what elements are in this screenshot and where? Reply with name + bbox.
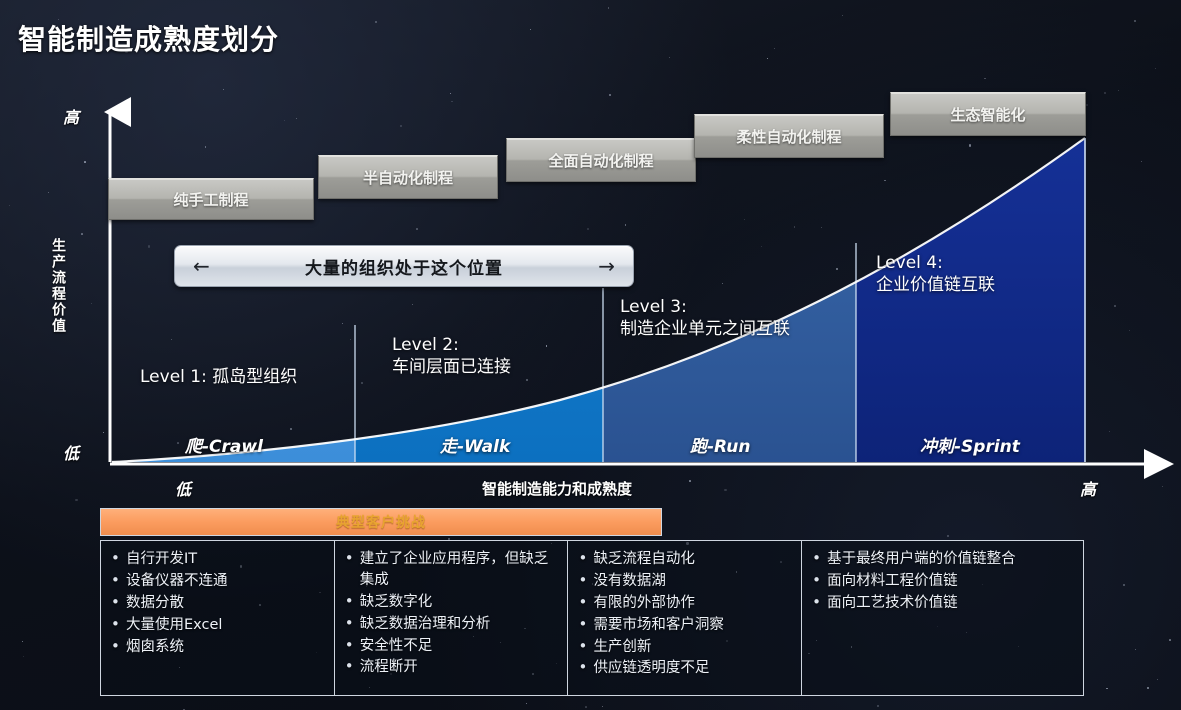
list-item: 缺乏流程自动化 [576, 549, 795, 570]
level-4-run-label: 冲刺-Sprint [920, 432, 1020, 457]
list-item: 建立了企业应用程序，但缺乏集成 [343, 549, 562, 591]
list-item: 需要市场和客户洞察 [576, 615, 795, 636]
x-axis-low-label: 低 [175, 476, 191, 500]
step-block-full-auto[interactable]: 全面自动化制程 [506, 138, 696, 182]
list-item: 大量使用Excel [109, 615, 328, 636]
y-axis-high-label: 高 [63, 104, 79, 128]
challenges-list-1: 自行开发IT设备仪器不连通数据分散大量使用Excel烟囱系统 [109, 549, 328, 657]
list-item: 基于最终用户端的价值链整合 [810, 549, 1077, 570]
list-item: 供应链透明度不足 [576, 658, 795, 679]
level-3-title-line1: Level 3: [620, 296, 790, 318]
diagram-canvas: 智能制造成熟度划分 [0, 0, 1181, 710]
level-2-title: Level 2: 车间层面已连接 [392, 334, 511, 379]
challenges-column-1: 自行开发IT设备仪器不连通数据分散大量使用Excel烟囱系统 [101, 541, 335, 695]
level-2-run-label: 走-Walk [440, 432, 510, 457]
step-block-flexible-auto[interactable]: 柔性自动化制程 [694, 114, 884, 158]
x-axis-title: 智能制造能力和成熟度 [482, 478, 632, 499]
level-3-title-line2: 制造企业单元之间互联 [620, 318, 790, 340]
level-2-title-line2: 车间层面已连接 [392, 356, 511, 378]
list-item: 设备仪器不连通 [109, 571, 328, 592]
challenges-column-4: 基于最终用户端的价值链整合面向材料工程价值链面向工艺技术价值链 [802, 541, 1083, 695]
typical-challenges-banner-label: 典型客户挑战 [336, 512, 426, 532]
arrow-right-icon: → [598, 256, 615, 276]
x-axis-high-label: 高 [1080, 476, 1096, 500]
challenges-column-3: 缺乏流程自动化没有数据湖有限的外部协作需要市场和客户洞察生产创新供应链透明度不足 [568, 541, 802, 695]
level-4-title: Level 4: 企业价值链互联 [876, 252, 995, 297]
step-block-manual[interactable]: 纯手工制程 [108, 178, 314, 220]
arrow-left-icon: ← [193, 256, 210, 276]
list-item: 安全性不足 [343, 636, 562, 657]
list-item: 缺乏数据治理和分析 [343, 614, 562, 635]
y-axis-low-label: 低 [63, 440, 79, 464]
list-item: 流程断开 [343, 657, 562, 678]
challenges-list-3: 缺乏流程自动化没有数据湖有限的外部协作需要市场和客户洞察生产创新供应链透明度不足 [576, 549, 795, 679]
typical-challenges-banner: 典型客户挑战 [100, 508, 662, 536]
callout-banner[interactable]: ← 大量的组织处于这个位置 → [174, 245, 634, 287]
challenges-column-2: 建立了企业应用程序，但缺乏集成缺乏数字化缺乏数据治理和分析安全性不足流程断开 [335, 541, 569, 695]
level-1-title: Level 1: 孤岛型组织 [140, 366, 297, 388]
list-item: 没有数据湖 [576, 571, 795, 592]
step-block-eco-intelligent[interactable]: 生态智能化 [890, 92, 1086, 136]
level-3-title: Level 3: 制造企业单元之间互联 [620, 296, 790, 341]
level-4-title-line1: Level 4: [876, 252, 995, 274]
challenges-table: 自行开发IT设备仪器不连通数据分散大量使用Excel烟囱系统 建立了企业应用程序… [100, 540, 1084, 696]
list-item: 数据分散 [109, 593, 328, 614]
level-2-title-line1: Level 2: [392, 334, 511, 356]
list-item: 烟囱系统 [109, 637, 328, 658]
list-item: 有限的外部协作 [576, 593, 795, 614]
list-item: 缺乏数字化 [343, 592, 562, 613]
y-axis-title: 生产流程价值 [46, 238, 68, 334]
level-1-run-label: 爬-Crawl [185, 432, 263, 457]
level-3-run-label: 跑-Run [690, 432, 750, 457]
challenges-list-2: 建立了企业应用程序，但缺乏集成缺乏数字化缺乏数据治理和分析安全性不足流程断开 [343, 549, 562, 678]
list-item: 面向工艺技术价值链 [810, 593, 1077, 614]
list-item: 面向材料工程价值链 [810, 571, 1077, 592]
list-item: 自行开发IT [109, 549, 328, 570]
level-4-title-line2: 企业价值链互联 [876, 274, 995, 296]
list-item: 生产创新 [576, 637, 795, 658]
callout-text: 大量的组织处于这个位置 [210, 254, 598, 279]
challenges-list-4: 基于最终用户端的价值链整合面向材料工程价值链面向工艺技术价值链 [810, 549, 1077, 614]
step-block-semi-auto[interactable]: 半自动化制程 [318, 155, 498, 199]
